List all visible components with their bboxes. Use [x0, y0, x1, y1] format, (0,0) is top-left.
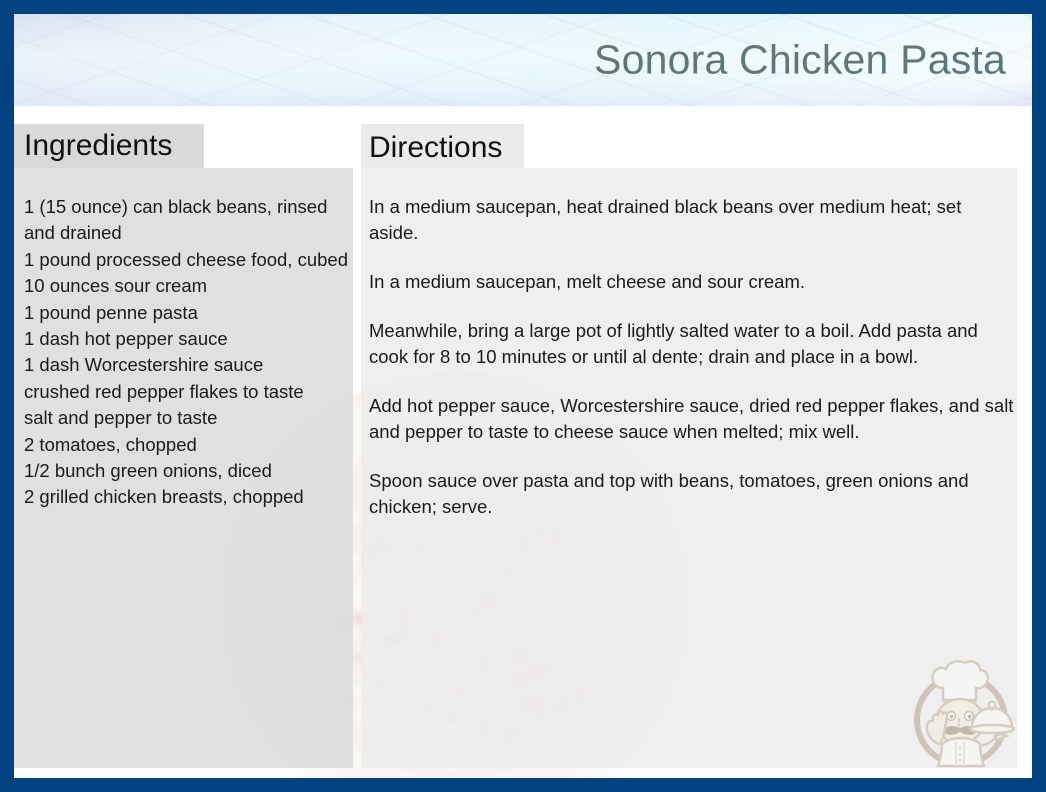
page-title: Sonora Chicken Pasta — [594, 37, 1006, 84]
ingredient-item: 10 ounces sour cream — [24, 273, 350, 299]
ingredient-item: 1 dash Worcestershire sauce — [24, 352, 350, 378]
ingredient-item: 2 tomatoes, chopped — [24, 432, 350, 458]
recipe-card: Sonora Chicken Pasta Ingredients 1 (15 o… — [0, 0, 1046, 792]
direction-step: Meanwhile, bring a large pot of lightly … — [369, 318, 1014, 370]
ingredient-item: 1 pound penne pasta — [24, 300, 350, 326]
ingredient-item: salt and pepper to taste — [24, 405, 350, 431]
ingredient-item: 1/2 bunch green onions, diced — [24, 458, 350, 484]
ingredients-list: 1 (15 ounce) can black beans, rinsed and… — [24, 194, 350, 511]
direction-step: Spoon sauce over pasta and top with bean… — [369, 468, 1014, 520]
ingredient-item: 2 grilled chicken breasts, chopped — [24, 484, 350, 510]
direction-step: In a medium saucepan, heat drained black… — [369, 194, 1014, 246]
ingredient-item: 1 (15 ounce) can black beans, rinsed and… — [24, 194, 350, 247]
directions-steps: In a medium saucepan, heat drained black… — [369, 194, 1014, 520]
direction-step: Add hot pepper sauce, Worcestershire sau… — [369, 393, 1014, 445]
ingredient-item: 1 pound processed cheese food, cubed — [24, 247, 350, 273]
photo-herb-fleck — [353, 679, 360, 688]
header-banner: Sonora Chicken Pasta — [14, 14, 1032, 106]
ingredients-heading: Ingredients — [24, 129, 172, 163]
directions-heading: Directions — [369, 131, 502, 165]
direction-step: In a medium saucepan, melt cheese and so… — [369, 269, 1014, 295]
ingredient-item: crushed red pepper flakes to taste — [24, 379, 350, 405]
chef-logo-icon — [898, 650, 1024, 772]
ingredient-item: 1 dash hot pepper sauce — [24, 326, 350, 352]
